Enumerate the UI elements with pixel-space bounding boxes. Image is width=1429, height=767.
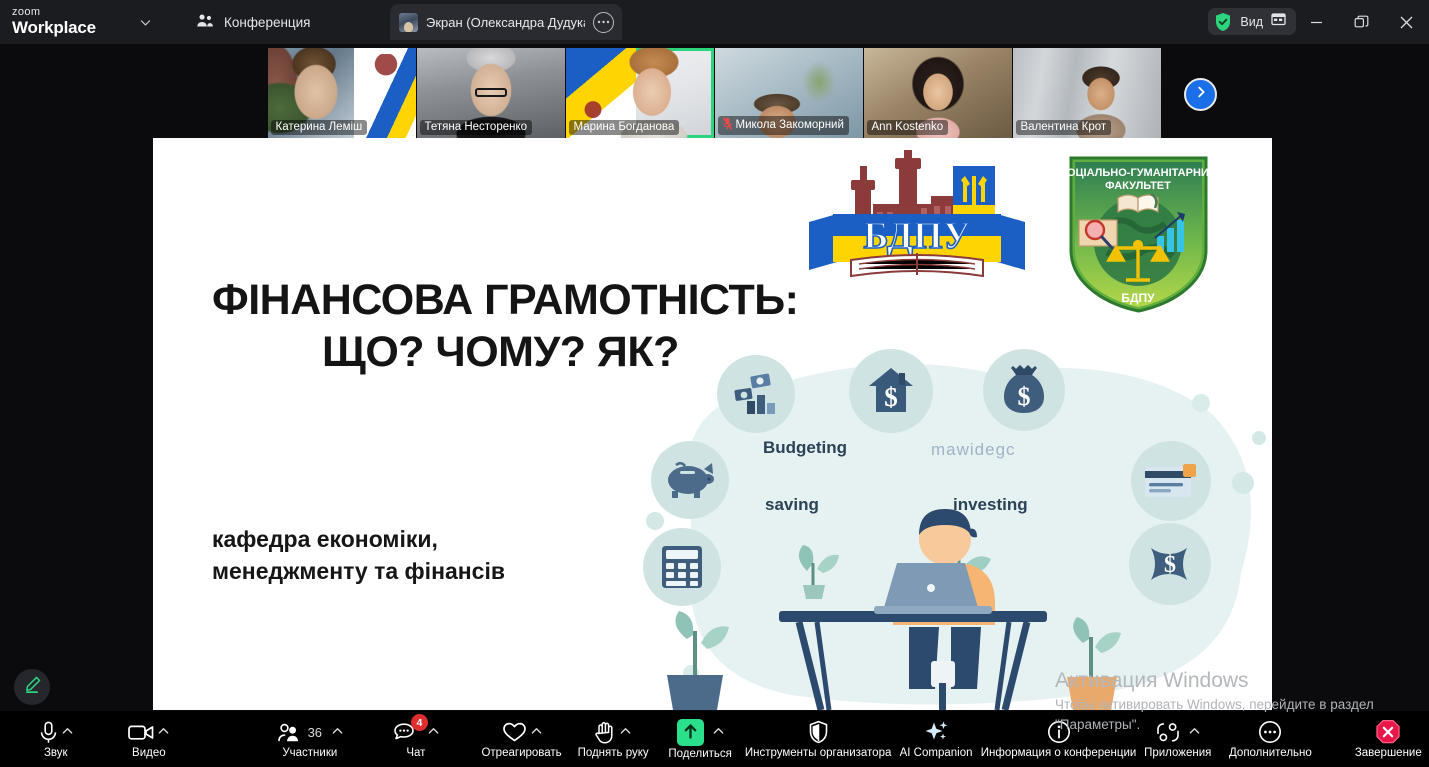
end-call-icon — [1375, 719, 1401, 745]
toolbar-meeting-info-button[interactable]: Информация о конференции — [981, 711, 1137, 767]
participant-name: Марина Богданова — [569, 120, 680, 135]
toolbar-share-label: Поделиться — [668, 748, 732, 760]
share-options-caret[interactable] — [713, 727, 724, 737]
chat-bubble-icon: 4 — [393, 719, 417, 745]
slide-subtitle-line1: кафедра економіки, — [212, 524, 632, 556]
toolbar-participants-label: Участники — [282, 747, 337, 759]
participant-thumbnail[interactable]: Ann Kostenko — [864, 48, 1012, 138]
toolbar-ai-companion-label: AI Companion — [900, 747, 973, 759]
share-screen-icon — [677, 719, 704, 746]
faculty-emblem-logo: СОЦІАЛЬНО-ГУМАНІТАРНИЙ ФАКУЛЬТЕТ — [1061, 152, 1216, 317]
audio-options-caret[interactable] — [62, 727, 73, 737]
layout-grid-icon — [1271, 12, 1286, 31]
info-circle-icon — [1047, 719, 1071, 745]
nav-item-meetings-label: Конференция — [224, 15, 311, 30]
participants-count: 36 — [308, 725, 322, 740]
participant-name: Микола Закоморний — [718, 116, 849, 135]
zoom-meeting-window: zoom Workplace Конференция Экран (Олекса… — [0, 0, 1429, 767]
person-at-laptop-illustration — [631, 343, 1271, 710]
toolbar-reactions-button[interactable]: Отреагировать — [474, 711, 568, 767]
chevron-down-icon[interactable] — [132, 9, 158, 35]
view-mode-label: Вид — [1240, 15, 1263, 29]
toolbar-chat-button[interactable]: 4 Чат — [387, 711, 444, 767]
tab-shared-screen-label: Экран (Олександра Дудукалова) — [426, 15, 585, 30]
nav-item-meetings[interactable]: Конференция — [186, 7, 321, 37]
shield-check-icon — [1214, 12, 1232, 32]
toolbar-video-label: Видео — [132, 747, 166, 759]
financial-literacy-infographic: $ $ — [631, 343, 1271, 710]
slide-title-line1: ФІНАНСОВА ГРАМОТНІСТЬ: — [212, 276, 799, 324]
toolbar-more-button[interactable]: Дополнительно — [1223, 711, 1317, 767]
faculty-bottom-text: БДПУ — [1121, 291, 1155, 305]
toolbar-end-meeting-button[interactable]: Завершение — [1348, 711, 1429, 767]
participant-name: Ann Kostenko — [867, 120, 949, 135]
zoom-brand: zoom Workplace — [0, 7, 132, 36]
apps-icon — [1155, 719, 1181, 745]
microphone-icon — [39, 719, 58, 745]
participants-icon — [277, 719, 301, 745]
window-controls — [1294, 0, 1429, 44]
participant-thumbnail[interactable]: Микола Закоморний — [715, 48, 863, 138]
toolbar-raise-hand-label: Поднять руку — [578, 747, 649, 759]
minimize-icon[interactable] — [1294, 0, 1339, 44]
faculty-line2: ФАКУЛЬТЕТ — [1105, 180, 1171, 192]
pencil-annotate-icon — [23, 675, 42, 699]
chat-options-caret[interactable] — [428, 727, 439, 737]
participant-name: Тетяна Несторенко — [420, 120, 533, 135]
toolbar-apps-label: Приложения — [1144, 747, 1211, 759]
toolbar-chat-label: Чат — [406, 747, 425, 759]
toolbar-meeting-info-label: Информация о конференции — [981, 747, 1137, 759]
toolbar-video-button[interactable]: Видео — [115, 711, 182, 767]
participant-thumbnail-active[interactable]: Марина Богданова — [566, 48, 714, 138]
toolbar-reactions-label: Отреагировать — [481, 747, 561, 759]
brand-workplace-text: Workplace — [12, 19, 96, 37]
ai-sparkle-icon — [924, 719, 949, 745]
raise-hand-options-caret[interactable] — [620, 727, 631, 737]
bdpu-university-logo: БДПУ — [803, 150, 1031, 280]
toolbar-audio-button[interactable]: Звук — [24, 711, 87, 767]
heart-icon — [502, 719, 527, 745]
toolbar-participants-button[interactable]: 36 Участники — [264, 711, 355, 767]
participants-options-caret[interactable] — [332, 727, 343, 737]
toolbar-more-label: Дополнительно — [1229, 747, 1312, 759]
annotate-button[interactable] — [14, 669, 50, 705]
maximize-icon[interactable] — [1339, 0, 1384, 44]
microphone-muted-icon — [723, 117, 732, 133]
apps-options-caret[interactable] — [1189, 727, 1200, 737]
slide-subtitle-line2: менеджменту та фінансів — [212, 556, 632, 588]
slide-subtitle: кафедра економіки, менеджменту та фінанс… — [212, 524, 632, 587]
host-tools-shield-icon — [808, 719, 829, 745]
participant-name: Валентина Крот — [1016, 120, 1112, 135]
participant-thumbnail[interactable]: Тетяна Несторенко — [417, 48, 565, 138]
toolbar-end-meeting-label: Завершение — [1355, 747, 1422, 759]
title-bar: zoom Workplace Конференция Экран (Олекса… — [0, 0, 1429, 44]
participant-thumbnail[interactable]: Катерина Леміш — [268, 48, 416, 138]
tab-shared-screen[interactable]: Экран (Олександра Дудукалова) — [390, 4, 622, 40]
toolbar-audio-label: Звук — [44, 747, 68, 759]
filmstrip-next-button[interactable] — [1184, 78, 1217, 111]
bdpu-logo-text: БДПУ — [863, 215, 970, 257]
faculty-line1: СОЦІАЛЬНО-ГУМАНІТАРНИЙ — [1061, 166, 1216, 179]
view-mode-button[interactable]: Вид — [1208, 8, 1296, 35]
people-icon — [196, 13, 215, 31]
meeting-toolbar: Звук Видео — [0, 711, 1429, 767]
toolbar-raise-hand-button[interactable]: Поднять руку — [571, 711, 656, 767]
participant-thumbnail[interactable]: Валентина Крот — [1013, 48, 1161, 138]
close-icon[interactable] — [1384, 0, 1429, 44]
reactions-options-caret[interactable] — [531, 727, 542, 737]
participant-name: Катерина Леміш — [271, 120, 368, 135]
toolbar-host-tools-button[interactable]: Инструменты организатора — [745, 711, 892, 767]
raise-hand-icon — [595, 719, 616, 745]
toolbar-share-button[interactable]: Поделиться — [659, 711, 740, 767]
chat-unread-badge: 4 — [411, 714, 428, 731]
toolbar-apps-button[interactable]: Приложения — [1140, 711, 1215, 767]
more-dots-icon — [1258, 719, 1282, 745]
toolbar-ai-companion-button[interactable]: AI Companion — [895, 711, 976, 767]
chevron-right-icon — [1194, 85, 1208, 104]
camera-icon — [128, 719, 154, 745]
toolbar-host-tools-label: Инструменты организатора — [745, 747, 892, 759]
video-options-caret[interactable] — [158, 727, 169, 737]
participant-avatar — [399, 13, 418, 32]
more-options-icon[interactable] — [593, 12, 614, 33]
shared-screen-slide: БДПУ СОЦІАЛЬНО-ГУМАНІТАРНИЙ ФАКУЛЬТЕТ — [153, 138, 1272, 710]
